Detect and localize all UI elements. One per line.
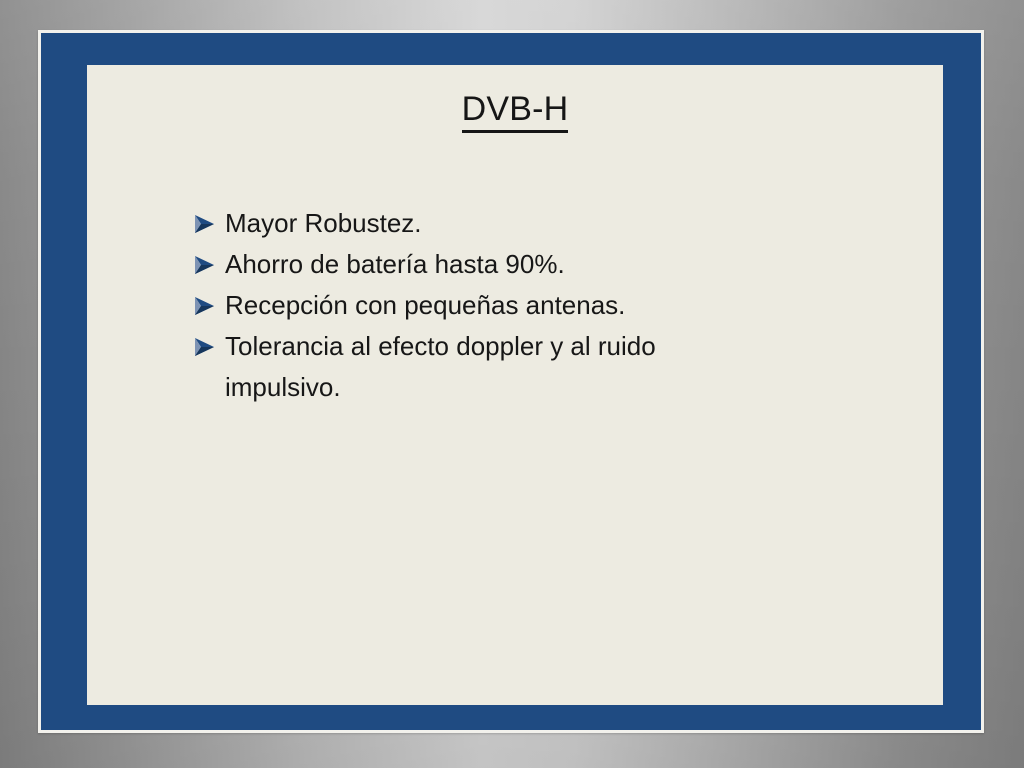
- list-item: Recepción con pequeñas antenas.: [193, 285, 893, 326]
- list-item: Tolerancia al efecto doppler y al ruido …: [193, 326, 893, 408]
- arrowhead-bullet-icon: [193, 203, 223, 244]
- bullet-list: Mayor Robustez. Ahorro de batería hasta …: [193, 203, 893, 408]
- page-title-text: DVB-H: [462, 91, 569, 133]
- list-item: Mayor Robustez.: [193, 203, 893, 244]
- page-title: DVB-H: [87, 91, 943, 133]
- list-item: Ahorro de batería hasta 90%.: [193, 244, 893, 285]
- list-item-label: Recepción con pequeñas antenas.: [223, 285, 893, 326]
- slide-frame-border: DVB-H Mayor Robustez.: [38, 30, 984, 733]
- arrowhead-bullet-icon: [193, 244, 223, 285]
- arrowhead-bullet-icon: [193, 285, 223, 326]
- list-item-label: Tolerancia al efecto doppler y al ruido …: [223, 326, 893, 408]
- slide-content-panel: DVB-H Mayor Robustez.: [87, 65, 943, 705]
- list-item-label: Mayor Robustez.: [223, 203, 893, 244]
- list-item-label: Ahorro de batería hasta 90%.: [223, 244, 893, 285]
- arrowhead-bullet-icon: [193, 326, 223, 367]
